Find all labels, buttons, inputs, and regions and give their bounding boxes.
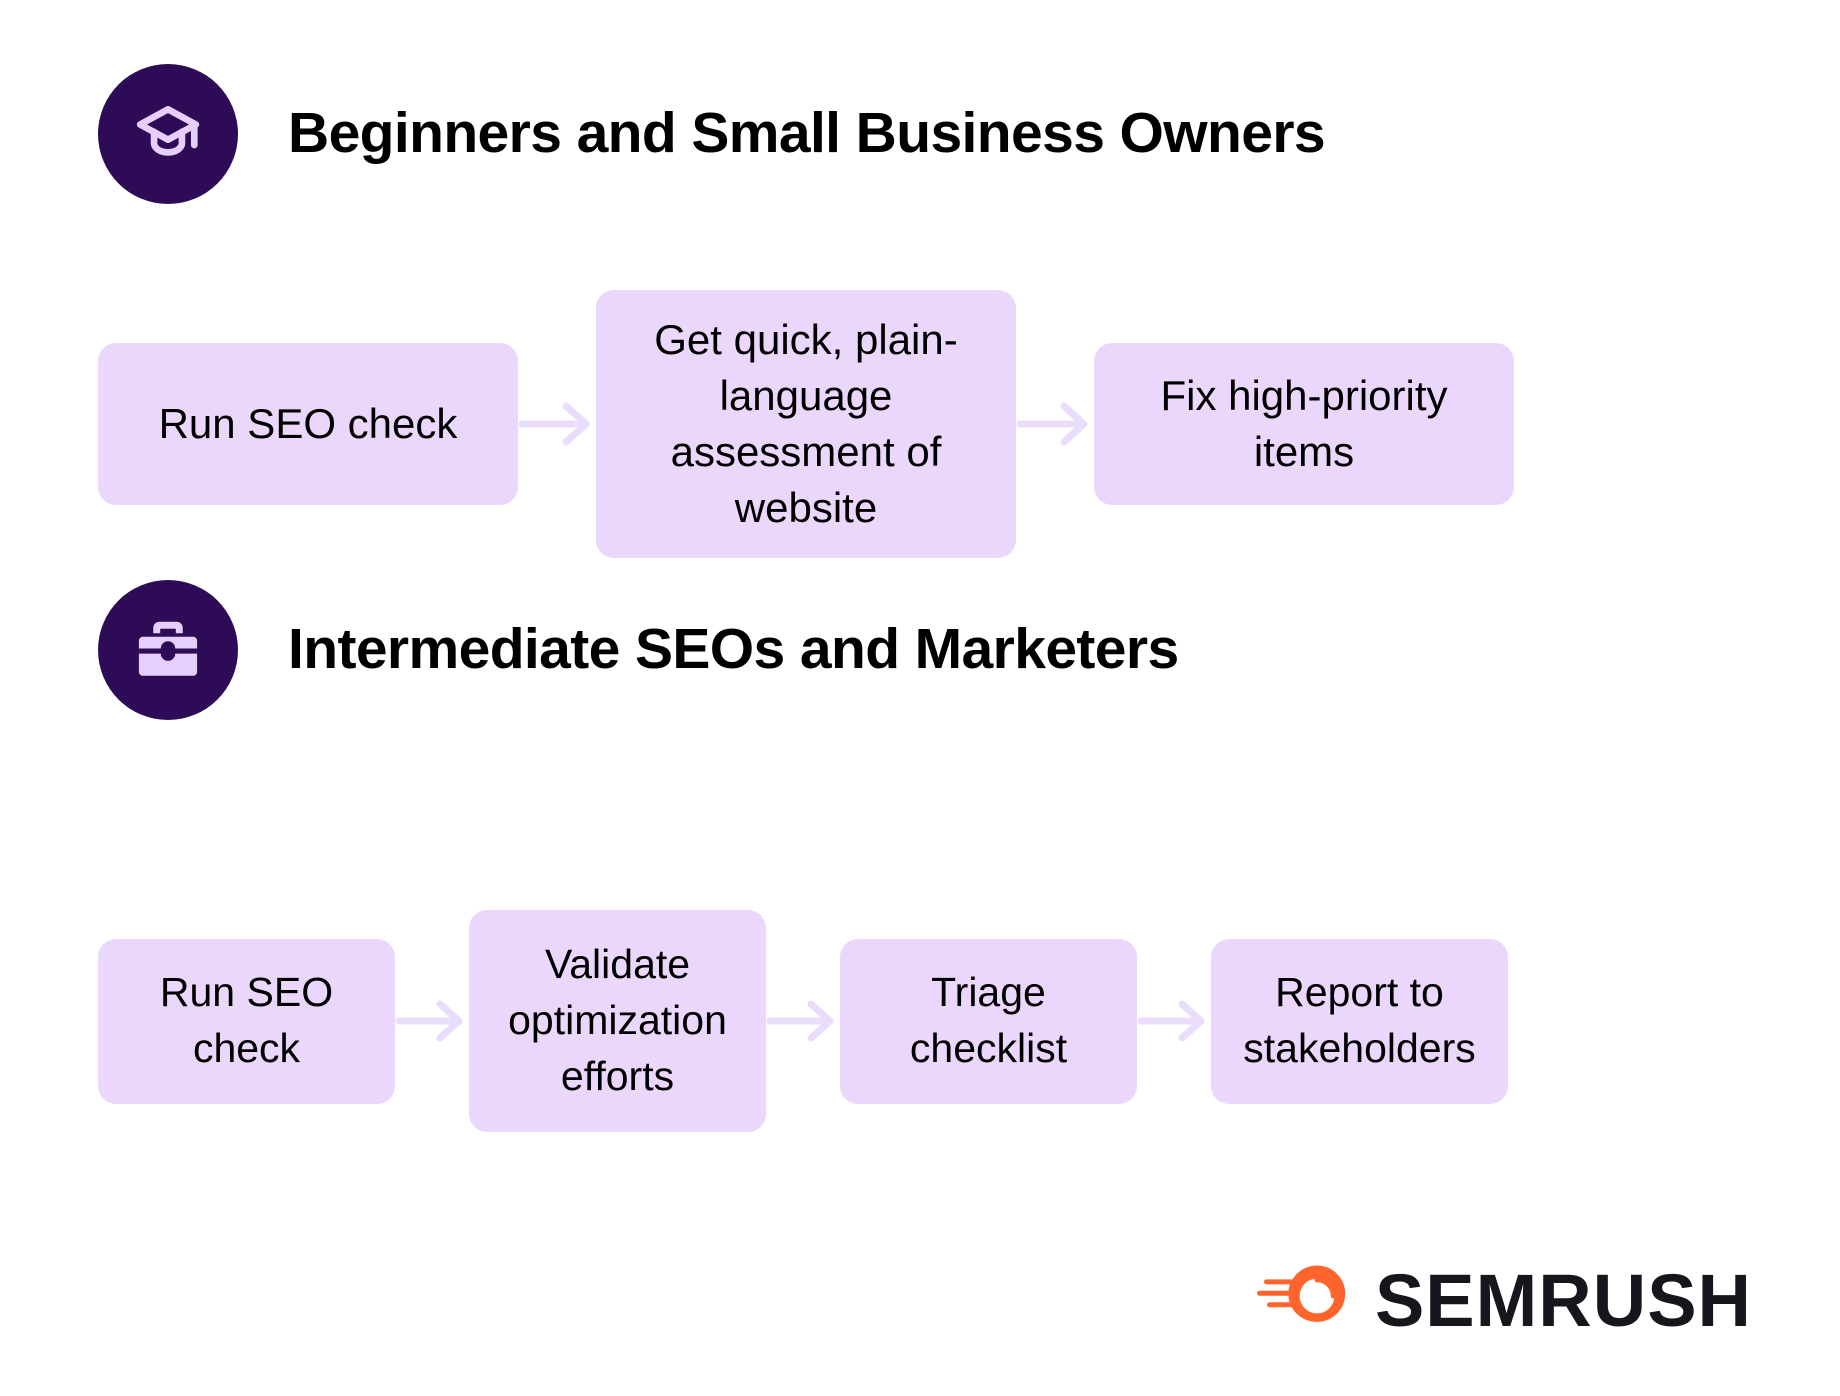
flow-node: Report to stakeholders [1211,939,1508,1104]
briefcase-icon [132,614,204,686]
section-title: Beginners and Small Business Owners [288,104,1325,164]
flow-arrow-icon [395,992,469,1050]
section-intermediate: Intermediate SEOs and Marketers [0,580,1840,720]
flow-node: Run SEO check [98,939,395,1104]
flow-node-label: Fix high-priority items [1112,368,1496,480]
semrush-logo: SEMRUSH [1257,1263,1752,1338]
flow-arrow-icon [1137,992,1211,1050]
semrush-wordmark: SEMRUSH [1375,1264,1752,1338]
semrush-comet-icon [1257,1263,1349,1338]
flow-node: Get quick, plain-language assessment of … [596,290,1016,558]
section-title: Intermediate SEOs and Marketers [288,620,1179,680]
flow-node: Triage checklist [840,939,1137,1104]
graduation-cap-icon [130,96,206,172]
flow-arrow-icon [1016,394,1094,454]
flow-node-label: Run SEO check [116,965,377,1077]
flow-arrow-icon [518,394,596,454]
briefcase-badge [98,580,238,720]
flow-node: Fix high-priority items [1094,343,1514,505]
section-header: Beginners and Small Business Owners [0,64,1840,204]
graduation-cap-badge [98,64,238,204]
infographic-card: Beginners and Small Business Owners Run … [0,0,1840,1396]
section-beginners: Beginners and Small Business Owners [0,64,1840,204]
flow-node: Run SEO check [98,343,518,505]
flow-node-label: Triage checklist [858,965,1119,1077]
flow-node-label: Get quick, plain-language assessment of … [614,312,998,535]
flow-intermediate: Run SEO check Validate optimization effo… [0,910,1840,1132]
flow-node-label: Validate optimization efforts [487,937,748,1104]
flow-node-label: Report to stakeholders [1229,965,1490,1077]
flow-node: Validate optimization efforts [469,910,766,1132]
flow-node-label: Run SEO check [159,396,458,452]
flow-arrow-icon [766,992,840,1050]
flow-beginners: Run SEO check Get quick, plain-language … [0,290,1840,558]
section-header: Intermediate SEOs and Marketers [0,580,1840,720]
